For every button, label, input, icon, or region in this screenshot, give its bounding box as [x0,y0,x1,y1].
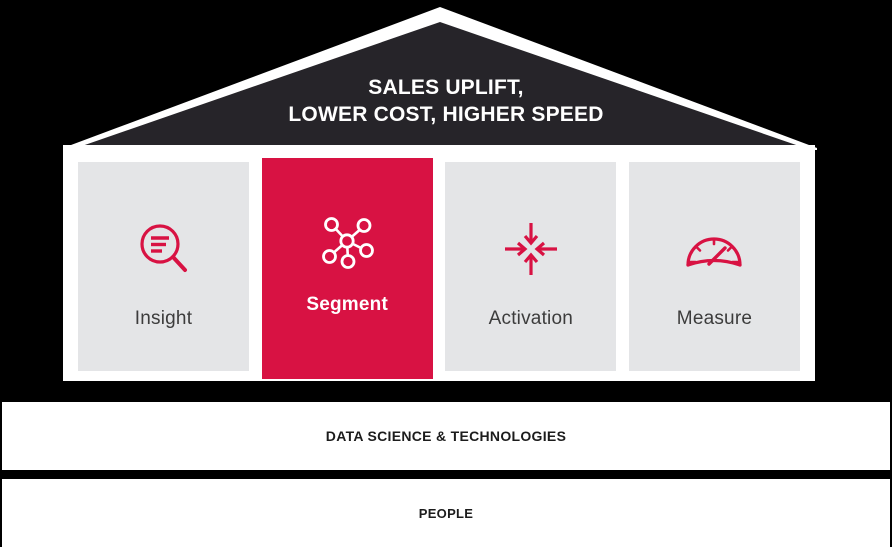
roof-fill [79,22,802,147]
foundation-label-data-science: DATA SCIENCE & TECHNOLOGIES [326,428,566,444]
pillar-card-insight[interactable]: Insight [78,162,249,371]
foundation-bar-people[interactable]: PEOPLE [2,479,890,547]
pillar-label-measure: Measure [677,308,752,330]
pillar-card-row: Insight [78,162,800,371]
network-nodes-icon [316,210,378,272]
pillar-card-measure[interactable]: Measure [629,162,800,371]
pillar-card-segment[interactable]: Segment [262,158,433,379]
pillar-label-insight: Insight [135,308,192,330]
roof: SALES UPLIFT, LOWER COST, HIGHER SPEED [0,0,892,150]
pillar-label-segment: Segment [306,294,388,316]
house-diagram: SALES UPLIFT, LOWER COST, HIGHER SPEED I… [0,0,892,547]
foundation-bar-data-science[interactable]: DATA SCIENCE & TECHNOLOGIES [2,402,890,470]
gauge-speedometer-icon [683,218,745,280]
converging-arrows-icon [500,218,562,280]
pillar-card-activation[interactable]: Activation [445,162,616,371]
magnifier-lines-icon [133,218,195,280]
pillar-label-activation: Activation [489,308,573,330]
pillars-panel: Insight [63,145,815,381]
roof-shape [0,0,892,150]
foundation-label-people: PEOPLE [419,506,474,521]
